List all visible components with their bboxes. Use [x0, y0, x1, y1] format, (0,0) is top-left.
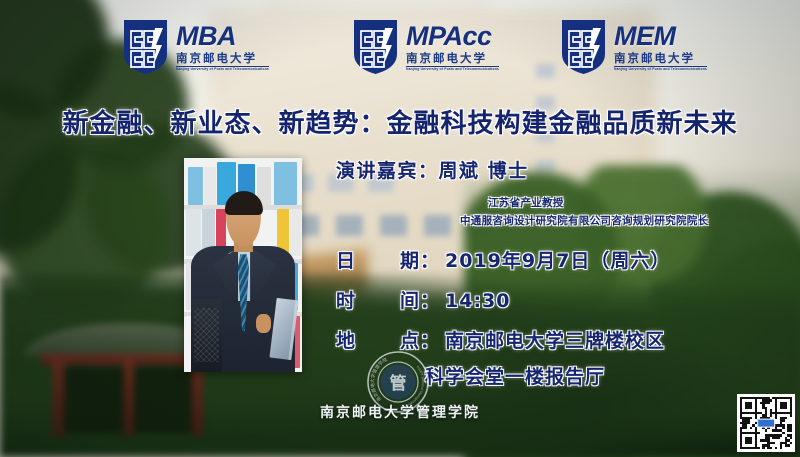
svg-text:管: 管 — [390, 373, 407, 394]
logo-abbr: MBA — [176, 23, 269, 50]
logo-university-cn: 南京邮电大学 — [176, 53, 269, 65]
time-label: 时 间 — [336, 286, 420, 313]
colon: ： — [420, 246, 440, 273]
logo-university-cn: 南京邮电大学 — [614, 53, 707, 65]
logo-bar: MBA 南京邮电大学 Nanjing University of Posts a… — [0, 16, 800, 80]
event-poster: MBA 南京邮电大学 Nanjing University of Posts a… — [0, 0, 800, 457]
bag-mesh-texture — [194, 308, 219, 362]
place-value-line2: 科学会堂一楼报告厅 — [425, 362, 605, 389]
logo-abbr: MPAcc — [406, 23, 499, 50]
speaker-figure — [184, 158, 302, 372]
logo-text-block: MEM 南京邮电大学 Nanjing University of Posts a… — [614, 23, 707, 71]
logo-text-block: MPAcc 南京邮电大学 Nanjing University of Posts… — [406, 23, 499, 71]
detail-row-date: 日 期 ： 2019年9月7日（周六） — [336, 246, 776, 273]
place-label: 地 点 — [336, 326, 420, 353]
poster-title: 新金融、新业态、新趋势：金融科技构建金融品质新未来 — [0, 103, 800, 140]
hand — [256, 314, 271, 333]
logo-university-cn: 南京邮电大学 — [406, 53, 499, 65]
logo-abbr: MEM — [614, 23, 707, 50]
logo-university-en: Nanjing University of Posts and Telecomm… — [406, 66, 499, 71]
qr-code[interactable] — [737, 394, 795, 452]
detail-row-place: 地 点 ： 南京邮电大学三牌楼校区 — [336, 326, 776, 353]
logo-university-en: Nanjing University of Posts and Telecomm… — [176, 66, 269, 71]
logo-text-block: MBA 南京邮电大学 Nanjing University of Posts a… — [176, 23, 269, 71]
logo-university-en: Nanjing University of Posts and Telecomm… — [614, 66, 707, 71]
njupt-shield-icon — [560, 18, 607, 76]
speaker-credential-1: 江苏省产业教授 — [488, 195, 776, 210]
qr-code-matrix — [740, 397, 792, 449]
speaker-label: 演讲嘉宾： — [336, 160, 439, 182]
hair — [225, 191, 263, 215]
time-value: 14:30 — [445, 290, 510, 312]
place-value-line1: 南京邮电大学三牌楼校区 — [445, 326, 665, 353]
speaker-credential-2: 中通服咨询设计研究院有限公司咨询规划研究院院长 — [460, 213, 776, 228]
date-label: 日 期 — [336, 246, 420, 273]
njupt-shield-icon — [352, 18, 399, 76]
shoulder-bag — [191, 299, 222, 372]
speaker-name: 周斌 博士 — [439, 160, 529, 182]
colon: ： — [420, 286, 440, 313]
detail-row-time: 时 间 ： 14:30 — [336, 286, 776, 313]
detail-row-place-continued: 科学会堂一楼报告厅 — [425, 362, 776, 389]
logo-mpacc: MPAcc 南京邮电大学 Nanjing University of Posts… — [352, 18, 499, 76]
logo-mem: MEM 南京邮电大学 Nanjing University of Posts a… — [560, 18, 707, 76]
speaker-photo — [184, 158, 302, 372]
njupt-shield-icon — [122, 18, 169, 76]
date-value: 2019年9月7日（周六） — [445, 246, 670, 273]
wechat-logo-icon — [757, 419, 775, 428]
organizer-name: 南京邮电大学管理学院 — [0, 402, 800, 422]
speaker-line: 演讲嘉宾：周斌 博士 — [336, 156, 776, 183]
colon: ： — [420, 326, 440, 353]
logo-mba: MBA 南京邮电大学 Nanjing University of Posts a… — [122, 18, 269, 76]
